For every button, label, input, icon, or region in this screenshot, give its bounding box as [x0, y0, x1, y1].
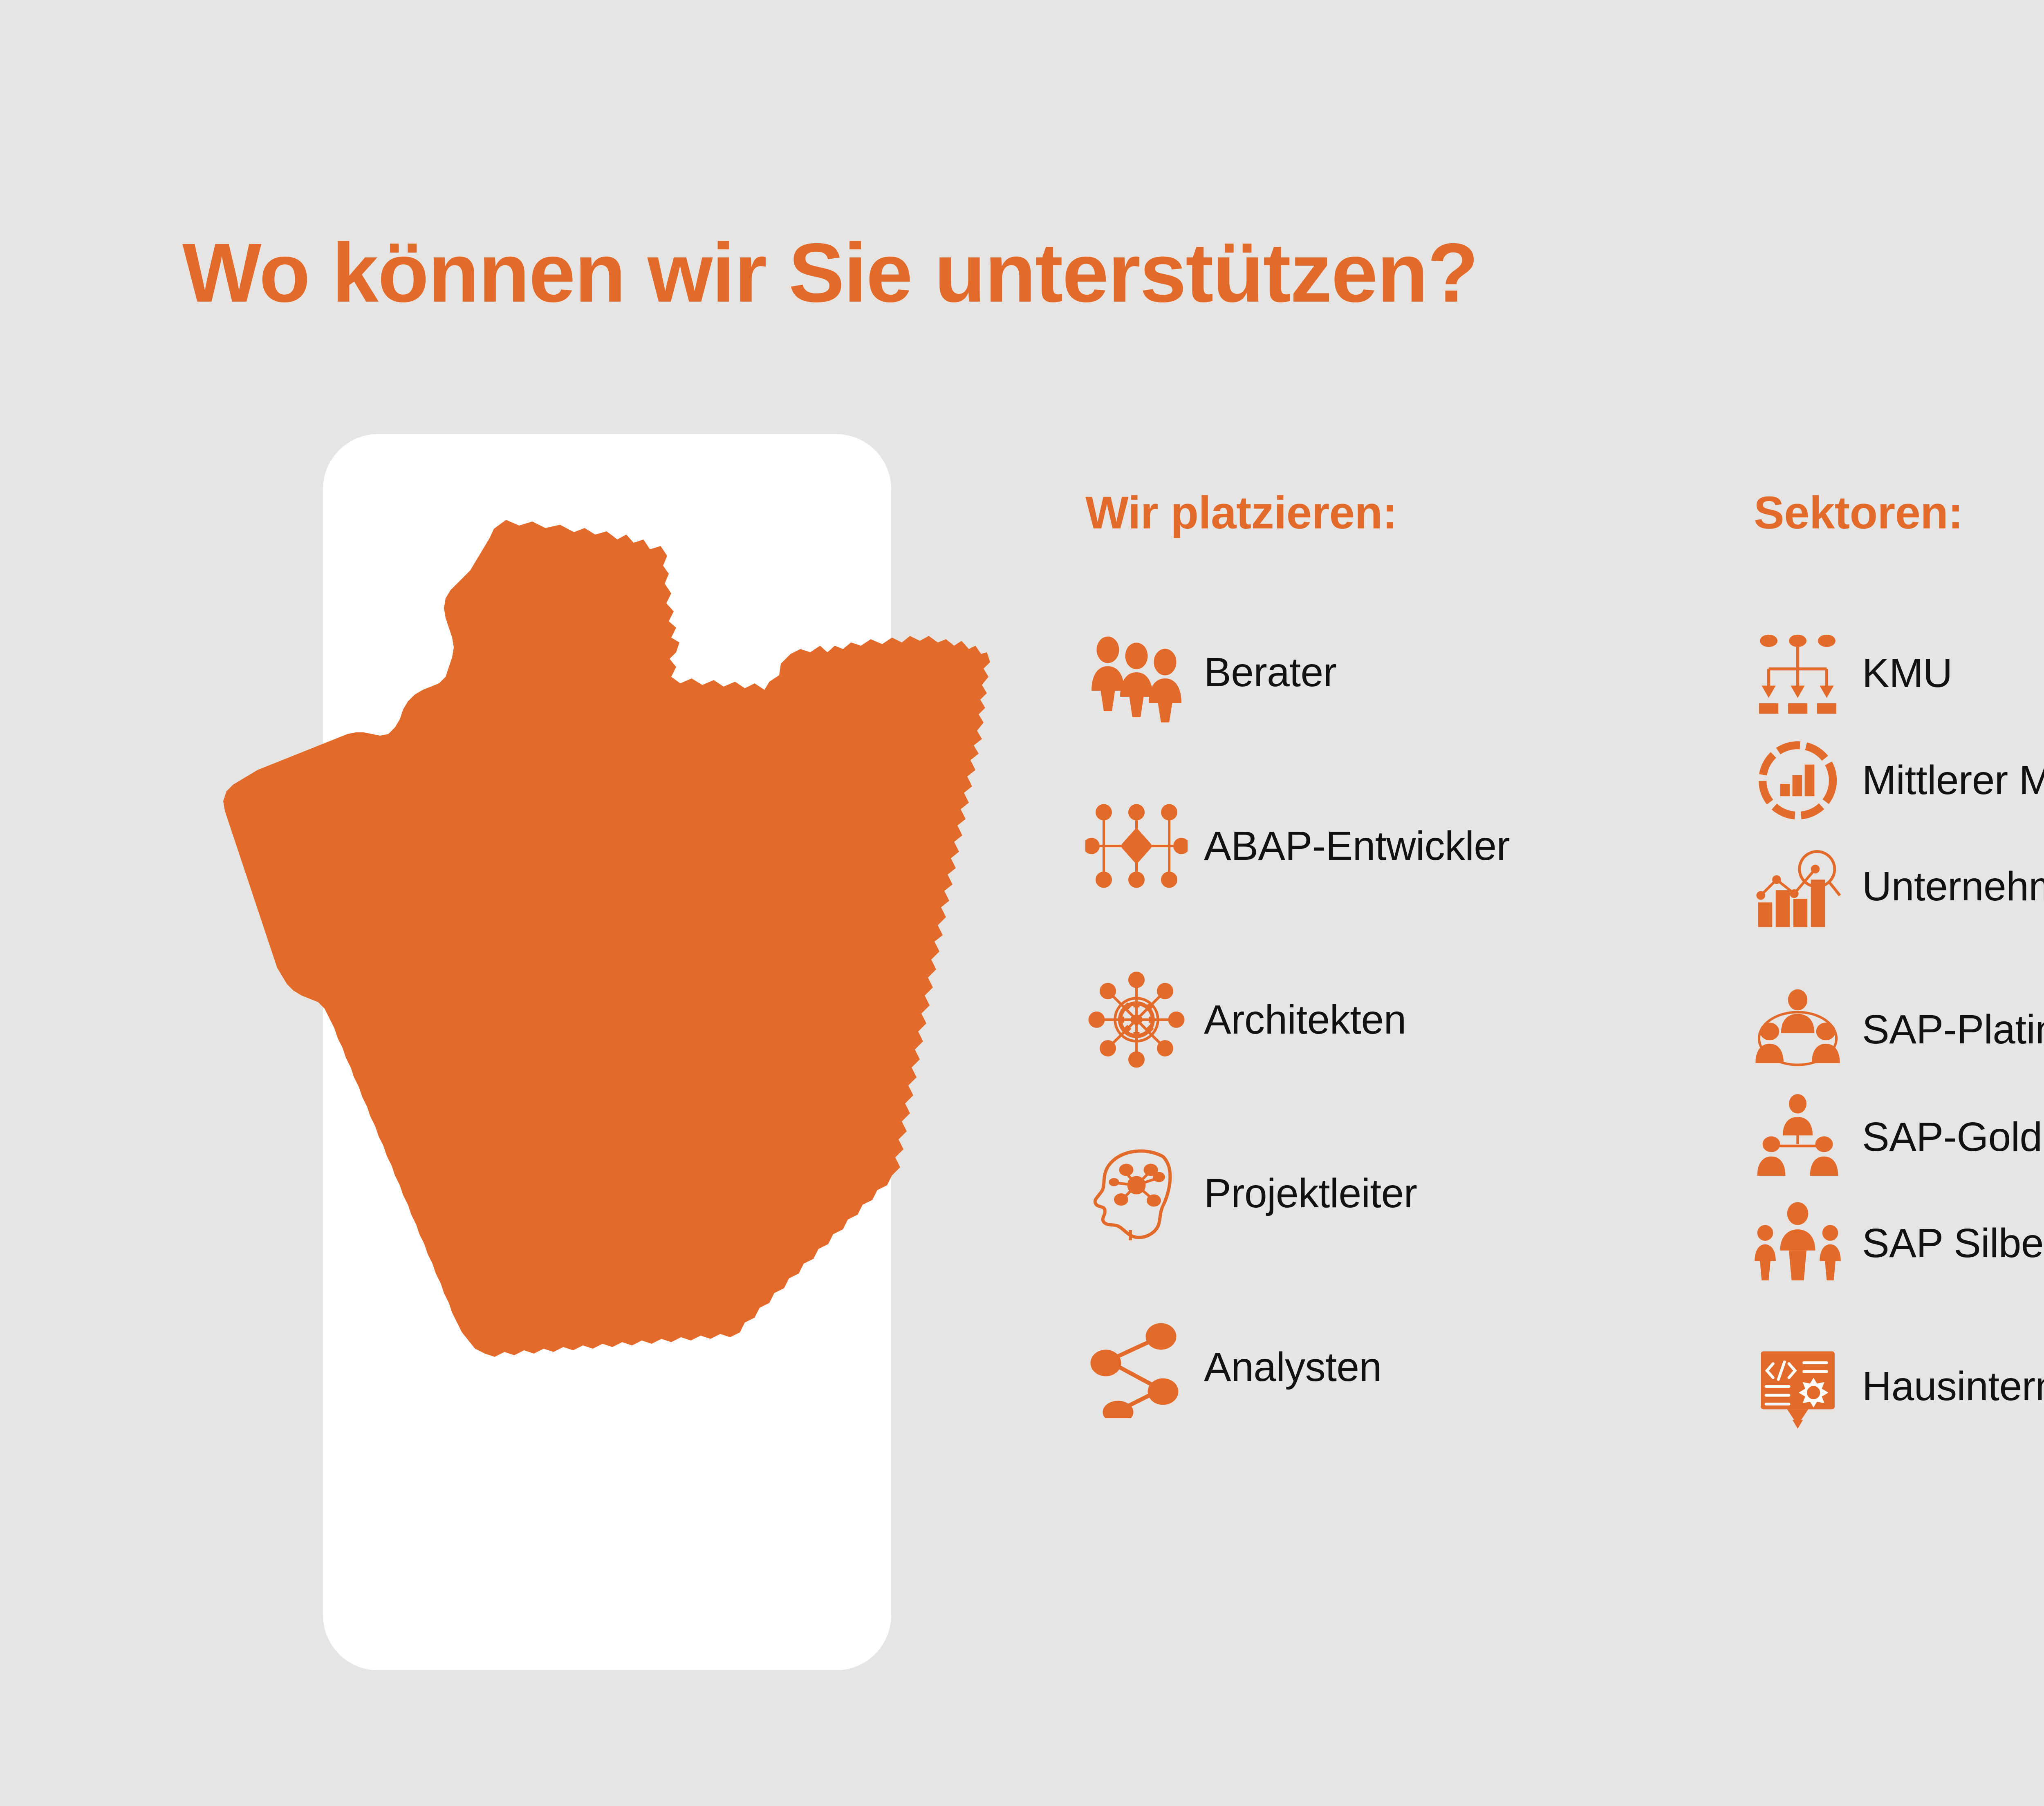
page-title: Wo können wir Sie unterstützen?: [182, 229, 1478, 317]
list-item-label: KMU: [1862, 650, 1952, 697]
list-item[interactable]: Hausintern: [1754, 1343, 2044, 1430]
people-group-icon: [1754, 1200, 1842, 1287]
list-item[interactable]: KMU: [1754, 629, 1952, 717]
list-item[interactable]: Architekten: [1085, 969, 1406, 1071]
three-people-icon: [1085, 621, 1188, 723]
list-item-label: SAP Silber-Partner: [1862, 1220, 2044, 1267]
list-item-label: SAP-Gold-Partner: [1862, 1114, 2044, 1161]
network-diamond-icon: [1085, 795, 1188, 897]
list-item[interactable]: Analysten: [1085, 1316, 1382, 1418]
list-item[interactable]: Projektleiter: [1085, 1142, 1417, 1244]
list-item[interactable]: ABAP-Entwickler: [1085, 795, 1510, 897]
code-badge-icon: [1754, 1343, 1842, 1430]
org-tree-icon: [1754, 1093, 1842, 1181]
sectors-header: Sektoren:: [1754, 486, 1963, 539]
list-item-label: Architekten: [1204, 996, 1406, 1043]
circle-bar-chart-icon: [1754, 736, 1842, 824]
list-item-label: SAP-Platin-Partner: [1862, 1006, 2044, 1053]
list-item-label: Berater: [1204, 649, 1336, 696]
infographic-canvas: Wo können wir Sie unterstützen? Wir plat…: [0, 0, 2044, 1806]
team-circle-icon: [1754, 986, 1842, 1074]
list-item[interactable]: SAP-Gold-Partner: [1754, 1093, 2044, 1181]
list-item[interactable]: SAP-Platin-Partner: [1754, 986, 2044, 1074]
share-nodes-icon: [1085, 1316, 1188, 1418]
list-item[interactable]: SAP Silber-Partner: [1754, 1200, 2044, 1287]
gear-hub-network-icon: [1085, 969, 1188, 1071]
head-brain-network-icon: [1085, 1142, 1188, 1244]
sectors-column: Sektoren:: [1754, 486, 1963, 539]
list-item-label: Unternehmen: [1862, 863, 2044, 910]
list-item-label: Hausintern: [1862, 1363, 2044, 1410]
list-item-label: ABAP-Entwickler: [1204, 823, 1510, 870]
list-item-label: Mittlerer Markt: [1862, 757, 2044, 804]
bar-chart-magnifier-icon: [1754, 843, 1842, 931]
list-item[interactable]: Berater: [1085, 621, 1336, 723]
germany-map: [176, 450, 993, 1594]
distribution-arrows-icon: [1754, 629, 1842, 717]
list-item-label: Projektleiter: [1204, 1170, 1417, 1217]
placements-header: Wir platzieren:: [1085, 486, 1397, 539]
list-item[interactable]: Unternehmen: [1754, 843, 2044, 931]
list-item[interactable]: Mittlerer Markt: [1754, 736, 2044, 824]
placements-column: Wir platzieren:: [1085, 486, 1397, 539]
list-item-label: Analysten: [1204, 1344, 1382, 1391]
